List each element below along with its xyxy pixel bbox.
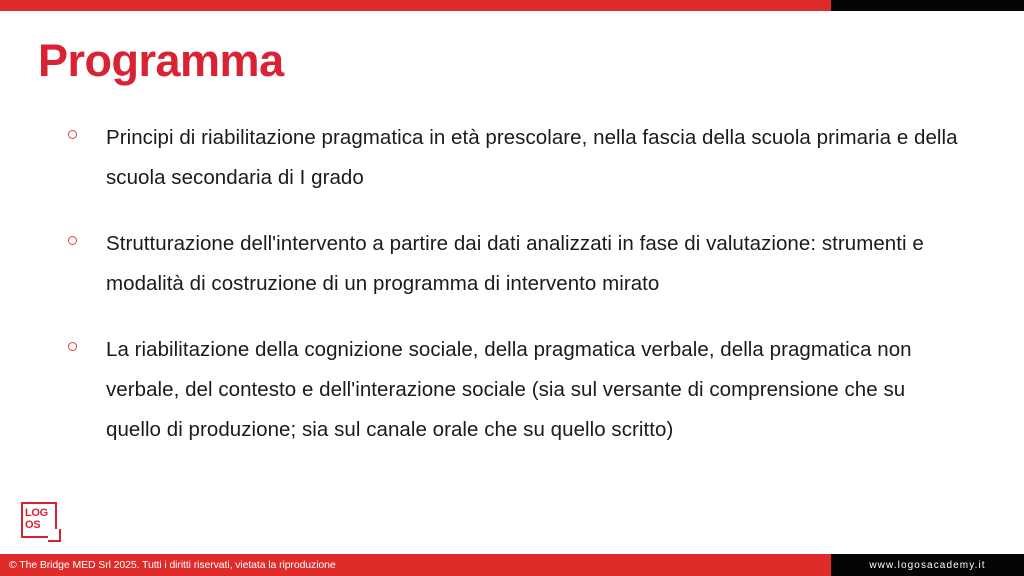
bullet-list: Principi di riabilitazione pragmatica in…: [68, 118, 958, 450]
logo-wordmark: LOG OS: [25, 507, 48, 531]
footer-black-segment: www.logosacademy.it: [831, 554, 1024, 576]
logo-wordmark-line1: LOG: [25, 507, 48, 519]
footer-red-segment: © The Bridge MED Srl 2025. Tutti i dirit…: [0, 554, 831, 576]
ring-bullet-icon: [68, 118, 106, 143]
slide: Programma Principi di riabilitazione pra…: [0, 0, 1024, 576]
list-item: Strutturazione dell'intervento a partire…: [68, 224, 958, 304]
footer-website-url[interactable]: www.logosacademy.it: [869, 560, 985, 571]
list-item: La riabilitazione della cognizione socia…: [68, 330, 958, 450]
page-title: Programma: [38, 36, 284, 86]
list-item: Principi di riabilitazione pragmatica in…: [68, 118, 958, 198]
footer-copyright: © The Bridge MED Srl 2025. Tutti i dirit…: [0, 559, 336, 571]
top-bar-black-segment: [831, 0, 1024, 11]
list-item-text: La riabilitazione della cognizione socia…: [106, 330, 958, 450]
logos-logo: LOG OS: [21, 502, 61, 542]
logo-corner-notch: [48, 529, 61, 542]
ring-bullet-icon: [68, 330, 106, 355]
list-item-text: Strutturazione dell'intervento a partire…: [106, 224, 958, 304]
top-bar-red-segment: [0, 0, 831, 11]
top-accent-bar: [0, 0, 1024, 11]
logo-wordmark-line2: OS: [25, 519, 48, 531]
ring-bullet-icon: [68, 224, 106, 249]
footer-bar: © The Bridge MED Srl 2025. Tutti i dirit…: [0, 554, 1024, 576]
list-item-text: Principi di riabilitazione pragmatica in…: [106, 118, 958, 198]
